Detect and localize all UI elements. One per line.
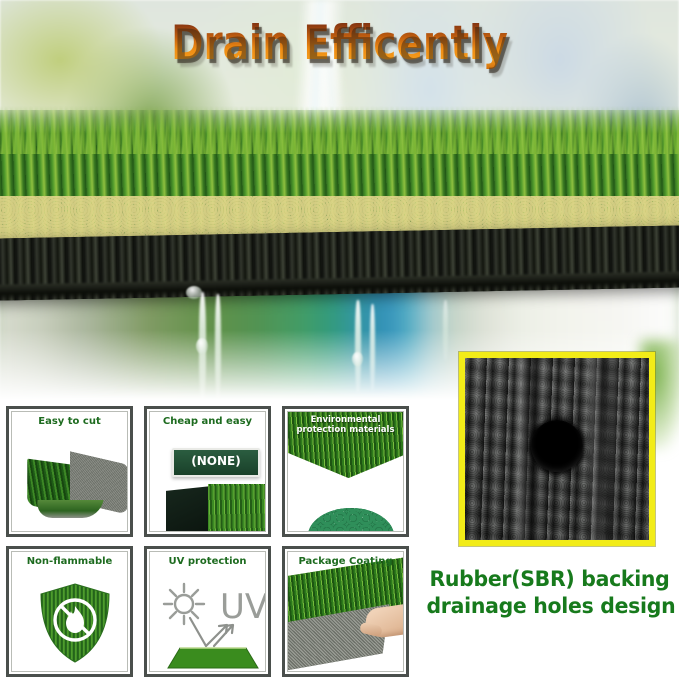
feature-panel-package-coating[interactable]: Package Coating [282,546,409,677]
uv-text: UV [220,587,266,627]
panel-label: Cheap and easy [150,416,265,427]
feature-panel-non-flammable[interactable]: Non-flammable [6,546,133,677]
panel-label: Non-flammable [12,556,127,567]
turf-roll-icon [26,456,126,518]
turf-swatch [208,484,266,532]
green-pellets-icon [308,498,394,532]
rubber-ridge [591,354,617,544]
feature-panel-easy-to-cut[interactable]: Easy to cut [6,406,133,537]
rubber-caption: Rubber(SBR) backing drainage holes desig… [426,566,672,620]
caption-line-2: drainage holes design [426,593,672,620]
panel-inner: UV protection UV [149,551,266,672]
turf-blade-tips [0,106,679,154]
panel-inner: Non-flammable [11,551,128,672]
hero-photo: Drain Efficently [0,0,679,400]
page-title: Drain Efficently [27,18,652,70]
panel-label: Easy to cut [12,416,127,427]
product-feature-poster: Drain Efficently Easy to cut Cheap and e… [0,0,679,679]
price-sign-icon: (NONE) [172,448,260,477]
panel-label: UV protection [150,556,265,567]
sun-uv-icon: UV [154,572,266,672]
drainage-hole [531,420,583,472]
panel-label: Package Coating [288,556,403,567]
panel-inner: Easy to cut [11,411,128,532]
panel-inner: Cheap and easy (NONE) [149,411,266,532]
feature-panel-environmental-protection[interactable]: Environmental protection materials [282,406,409,537]
feature-panel-cheap-and-easy[interactable]: Cheap and easy (NONE) [144,406,271,537]
panel-inner: Environmental protection materials [287,411,404,532]
caption-line-1: Rubber(SBR) backing [426,566,672,593]
rubber-backing-photo [459,352,655,546]
feature-panel-uv-protection[interactable]: UV protection UV [144,546,271,677]
panel-label: Environmental protection materials [288,415,403,435]
panel-inner: Package Coating [287,551,404,672]
shield-no-flame-icon [39,582,111,664]
feature-grid: Easy to cut Cheap and easy (NONE) Envi [6,406,416,676]
artificial-turf-mat [0,110,679,305]
